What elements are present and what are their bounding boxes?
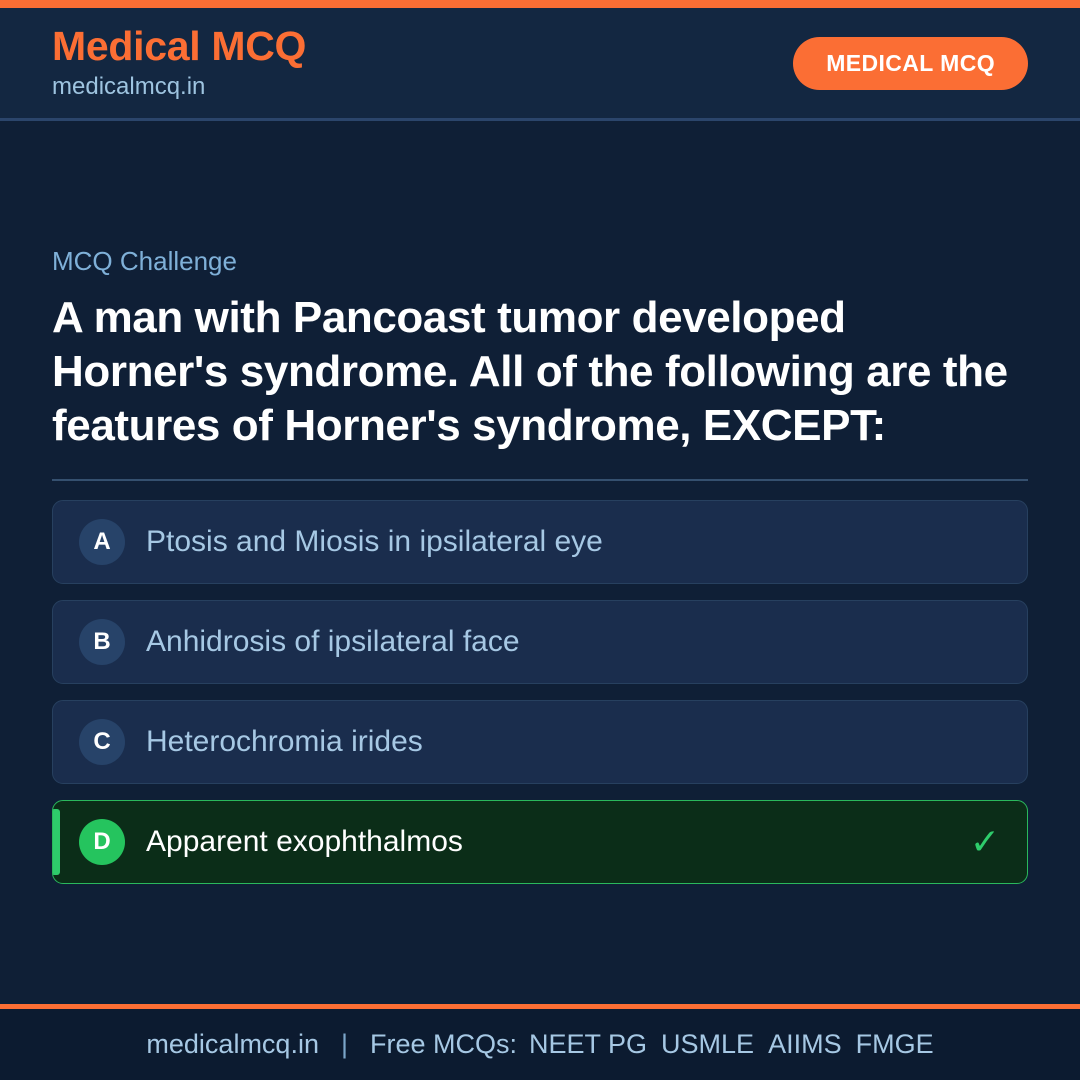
option-a[interactable]: A Ptosis and Miosis in ipsilateral eye ✓ <box>52 500 1028 584</box>
option-label: Anhidrosis of ipsilateral face <box>146 624 965 660</box>
mcq-card: Medical MCQ medicalmcq.in MEDICAL MCQ MC… <box>0 0 1080 1080</box>
footer-free-mcqs-label: Free MCQs: <box>370 1029 517 1060</box>
header-badge: MEDICAL MCQ <box>793 37 1028 90</box>
option-b[interactable]: B Anhidrosis of ipsilateral face ✓ <box>52 600 1028 684</box>
kicker-label: MCQ Challenge <box>52 246 1028 277</box>
footer-exam-neet-pg[interactable]: NEET PG <box>529 1029 647 1060</box>
option-label: Apparent exophthalmos <box>146 824 965 860</box>
footer-separator: | <box>341 1029 348 1060</box>
footer-content: medicalmcq.in | Free MCQs: NEET PG USMLE… <box>146 1029 933 1060</box>
question-text: A man with Pancoast tumor developed Horn… <box>52 291 1028 452</box>
option-d[interactable]: D Apparent exophthalmos ✓ <box>52 800 1028 884</box>
main-content: MCQ Challenge A man with Pancoast tumor … <box>0 121 1080 1004</box>
footer-exam-fmge[interactable]: FMGE <box>856 1029 934 1060</box>
check-icon: ✓ <box>965 824 1005 860</box>
footer: medicalmcq.in | Free MCQs: NEET PG USMLE… <box>0 1004 1080 1080</box>
footer-site-link[interactable]: medicalmcq.in <box>146 1029 319 1060</box>
header: Medical MCQ medicalmcq.in MEDICAL MCQ <box>0 8 1080 121</box>
brand-title: Medical MCQ <box>52 24 306 68</box>
options-list: A Ptosis and Miosis in ipsilateral eye ✓… <box>52 500 1028 884</box>
option-letter-badge: A <box>79 519 125 565</box>
footer-exam-usmle[interactable]: USMLE <box>661 1029 754 1060</box>
top-accent-bar <box>0 0 1080 8</box>
question-divider <box>52 479 1028 481</box>
correct-accent-bar <box>53 809 60 875</box>
footer-exam-aiims[interactable]: AIIMS <box>768 1029 842 1060</box>
option-label: Ptosis and Miosis in ipsilateral eye <box>146 524 965 560</box>
option-letter-badge: B <box>79 619 125 665</box>
option-letter-badge: C <box>79 719 125 765</box>
option-c[interactable]: C Heterochromia irides ✓ <box>52 700 1028 784</box>
brand: Medical MCQ medicalmcq.in <box>52 24 306 101</box>
brand-subtitle: medicalmcq.in <box>52 72 306 102</box>
option-letter-badge: D <box>79 819 125 865</box>
option-label: Heterochromia irides <box>146 724 965 760</box>
